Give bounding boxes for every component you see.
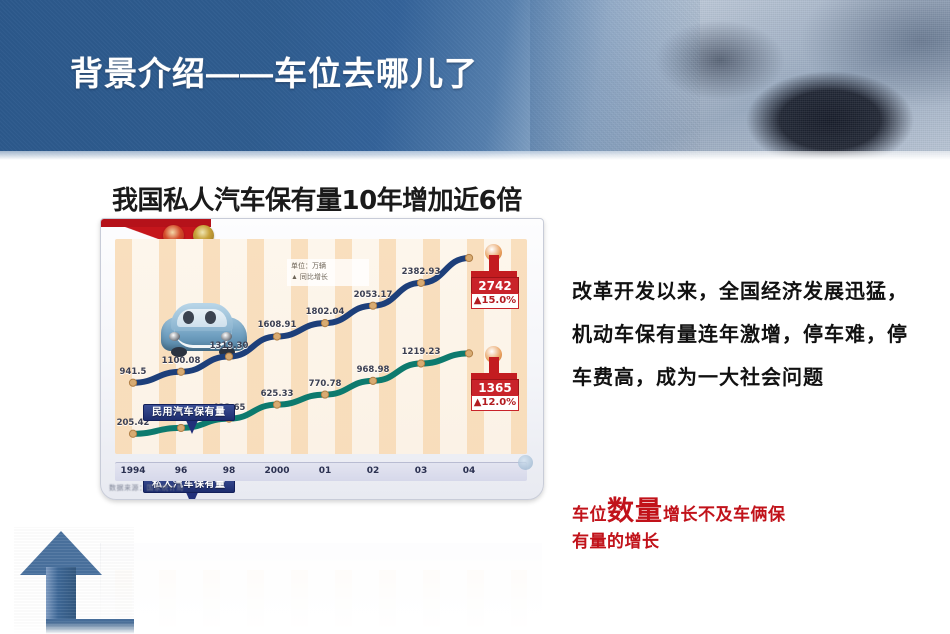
data-label: 1608.91 [258,320,297,330]
chart-source-note: 数据来源：国家统计局 [109,483,184,493]
highlight-text: 车位数量增长不及车俩保 有量的增长 [572,498,932,556]
x-axis-label: 1994 [120,466,145,476]
x-axis-label: 03 [415,466,428,476]
data-label: 2053.17 [354,290,393,300]
data-label: 1219.23 [402,347,441,357]
callout-pct-civil: ▲15.0% [471,293,519,309]
up-arrow-shape [14,527,134,634]
page-title: 背景介绍——车位去哪儿了 [70,47,478,95]
watermark-icon [518,455,533,470]
data-label: 1319.30 [210,341,249,351]
header-bottom-fade [0,151,950,160]
data-label: 1100.08 [162,356,201,366]
news-chart-image: 我国私人汽车保有量10年增加近6倍 [100,180,555,535]
callout-pct-private: ▲12.0% [471,395,519,411]
highlight-line2: 有量的增长 [572,532,660,552]
slide-header: 背景介绍——车位去哪儿了 [0,0,950,160]
chart-x-axis: 19949698200001020304 [115,462,527,481]
chart-reflection: 19949698200001020304 [100,543,542,629]
x-axis-label: 98 [223,466,236,476]
highlight-rest: 增长不及车俩保 [663,505,786,525]
highlight-emphasis: 数量 [607,496,663,527]
x-axis-label: 02 [367,466,380,476]
chart-frame: 单位：万辆 ▲ 同比增长 941.51100.081319.301608.911… [100,218,544,500]
x-axis-label: 2000 [264,466,289,476]
x-axis-label: 01 [319,466,332,476]
chart-headline: 我国私人汽车保有量10年增加近6倍 [112,180,522,217]
data-label: 625.33 [261,389,294,399]
chart-plot-area: 单位：万辆 ▲ 同比增长 941.51100.081319.301608.911… [115,239,527,454]
slide-root: 背景介绍——车位去哪儿了 我国私人汽车保有量10年增加近6倍 [0,0,950,634]
highlight-lead: 车位 [572,505,607,525]
x-axis-label: 04 [463,466,476,476]
data-label: 968.98 [357,365,390,375]
data-label: 770.78 [309,379,342,389]
reflection-fade [100,543,542,629]
data-label: 2382.93 [402,267,441,277]
body-paragraph: 改革开发以来，全国经济发展迅猛，机动车保有量连年激增，停车难，停车费高，成为一大… [572,270,927,399]
data-label: 1802.04 [306,307,345,317]
legend-badge-civil: 民用汽车保有量 [143,404,235,421]
bottom-fade [0,622,950,634]
data-label: 941.5 [120,367,147,377]
x-axis-label: 96 [175,466,188,476]
